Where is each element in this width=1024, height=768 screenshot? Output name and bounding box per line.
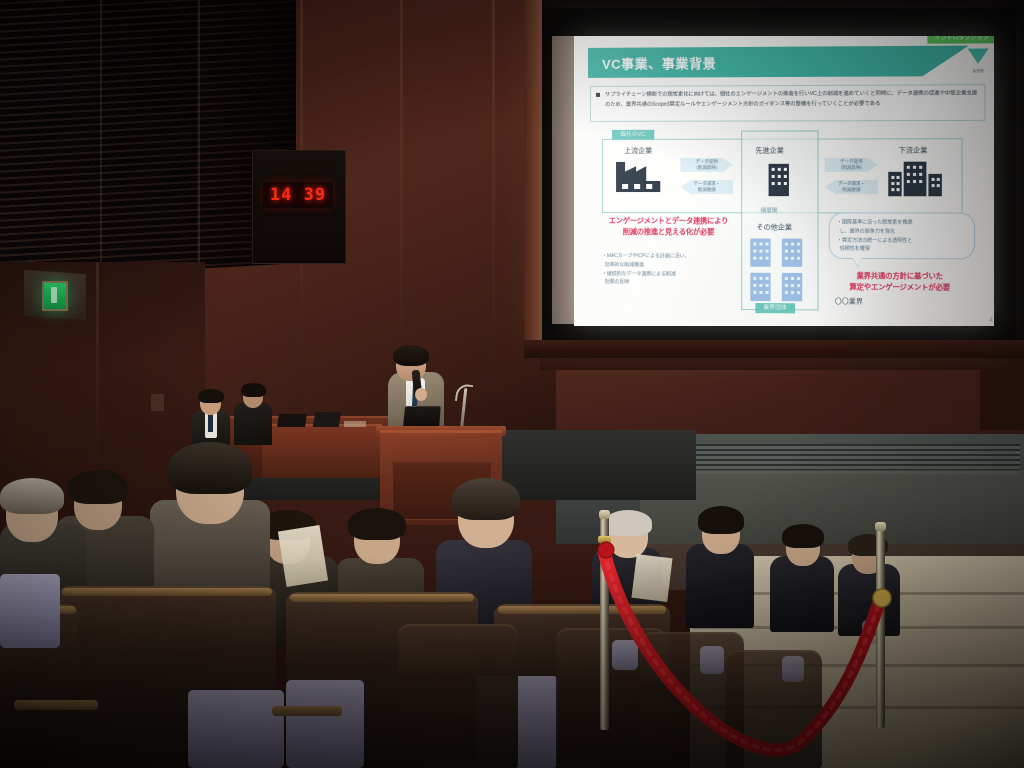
velvet-rope[interactable] bbox=[0, 0, 1024, 768]
conference-hall-screenshot: 14 39 イントロダクション VC事業、事業背景 製造業 サプライチェーン横断… bbox=[0, 0, 1024, 768]
